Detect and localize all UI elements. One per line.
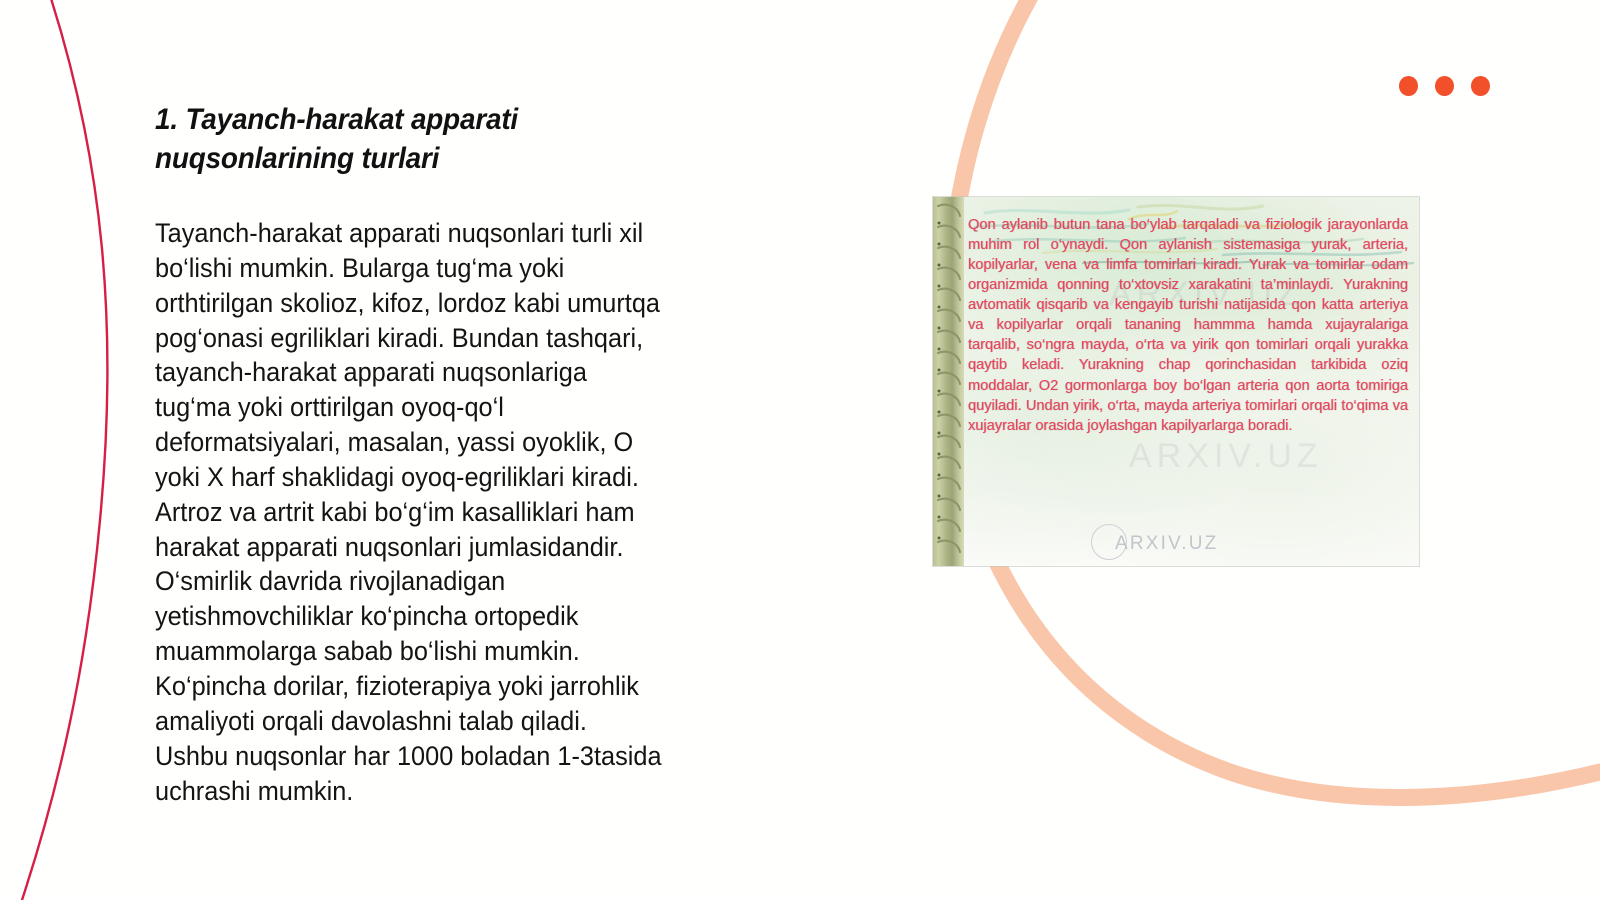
scanned-paragraph-text: Qon aylanib butun tana bo‘ylab tarqaladi… [964,215,1414,436]
three-dots-decoration [1399,76,1490,96]
dot-icon-2 [1435,76,1454,96]
dot-icon-3 [1471,76,1490,96]
watermark-ghost-mid: ARXIV.UZ [1129,437,1323,476]
slide-body-text: Tayanch-harakat apparati nuqsonlari turl… [155,216,814,808]
spiral-coil-icon [933,197,964,566]
presentation-slide: 1. Tayanch-harakat apparati nuqsonlarini… [0,0,1600,900]
dot-icon-1 [1399,76,1418,96]
watermark-label: ARXIV.UZ [1115,533,1218,555]
scanned-notebook-image: ARXIV.UZ ARXIV.UZ Qon aylanib butun tana… [933,197,1419,566]
left-crimson-arc [22,0,107,900]
spiral-binding-strip [933,197,964,566]
page-title: 1. Tayanch-harakat apparati nuqsonlarini… [155,100,797,178]
slide-text-column: 1. Tayanch-harakat apparati nuqsonlarini… [155,100,845,808]
